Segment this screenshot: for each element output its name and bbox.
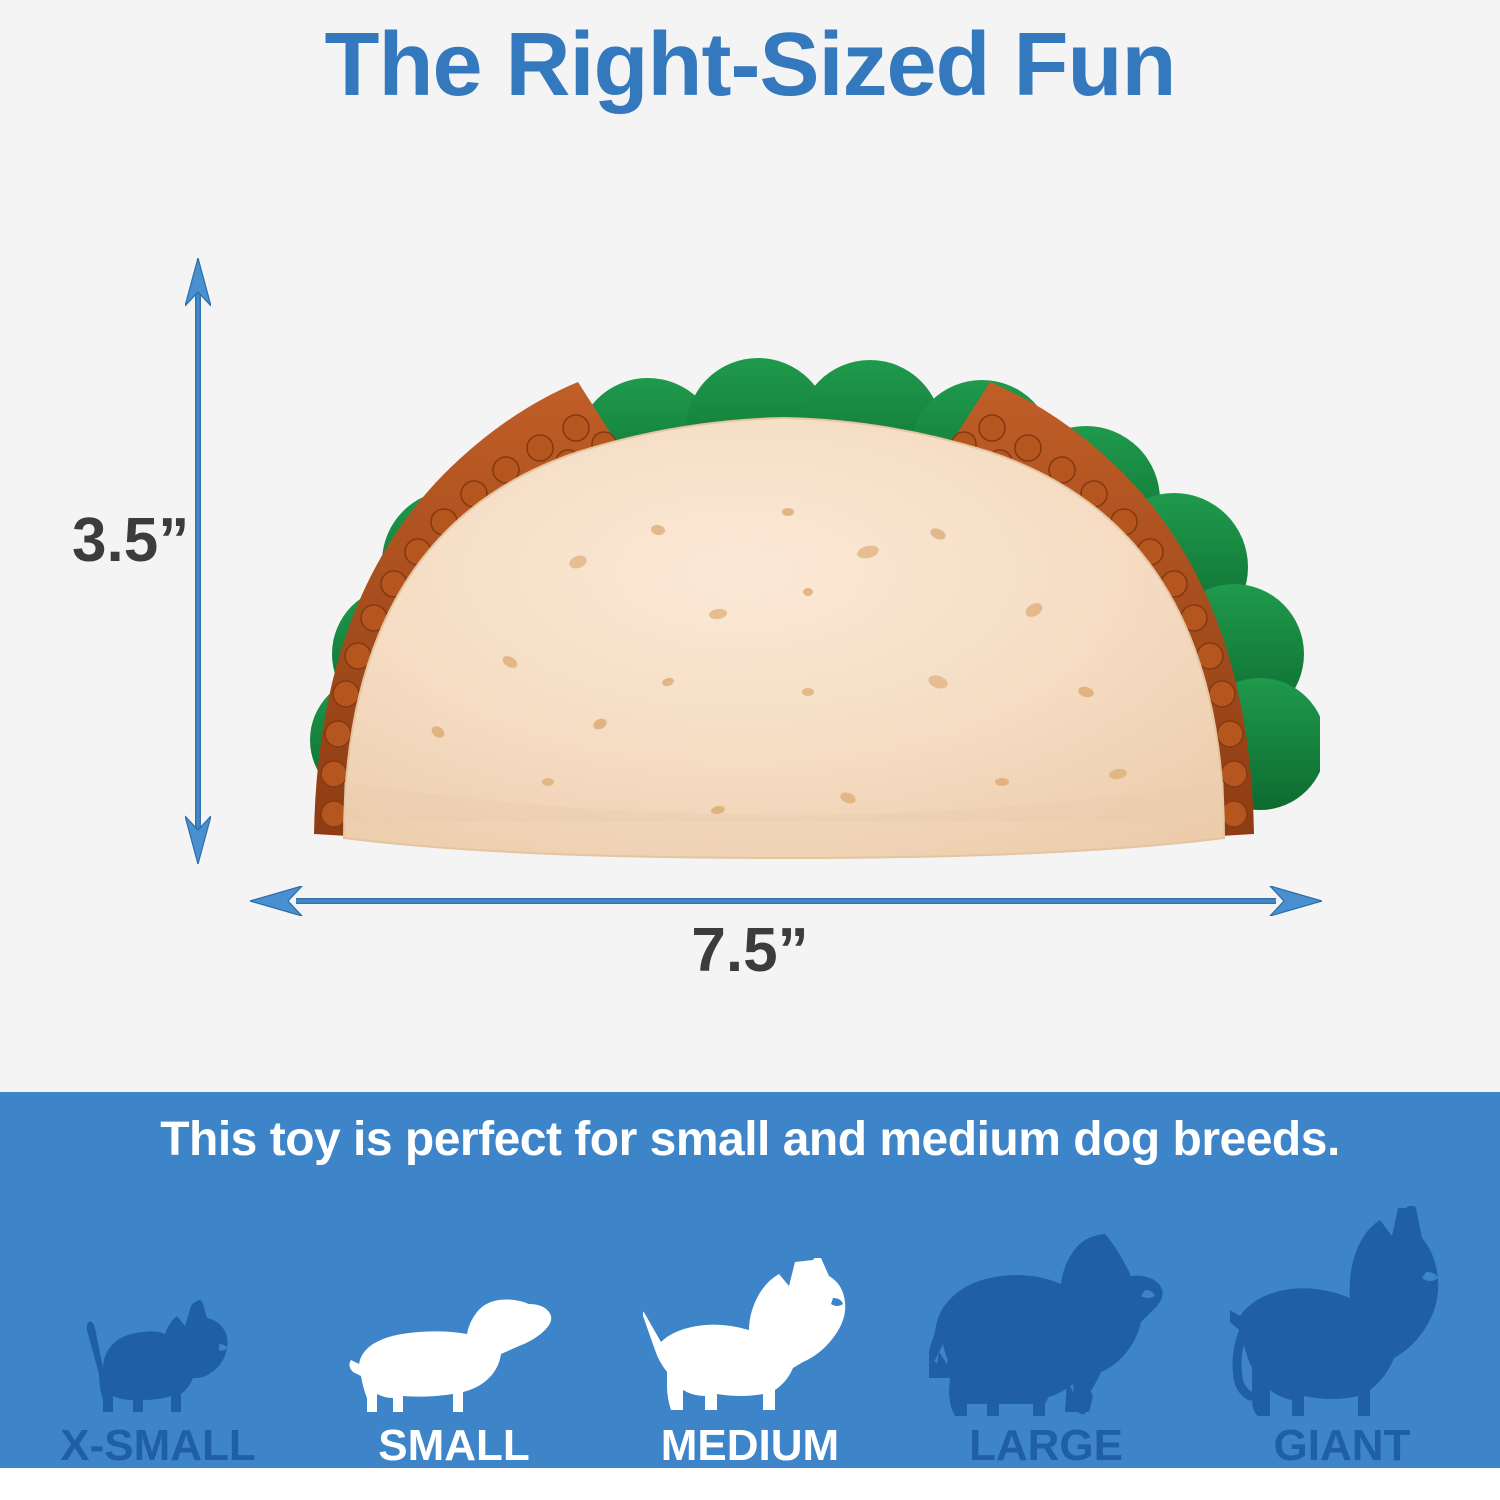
taco-plush-toy-image — [248, 262, 1320, 862]
size-option-medium[interactable]: MEDIUM — [610, 1206, 890, 1468]
infographic-page: The Right-Sized Fun 3.5” — [0, 0, 1500, 1500]
banner-message: This toy is perfect for small and medium… — [0, 1112, 1500, 1167]
width-dimension-label: 7.5” — [0, 915, 1500, 986]
size-option-large[interactable]: LARGE — [906, 1206, 1186, 1468]
great-dane-dog-icon — [1230, 1206, 1455, 1418]
size-option-x-small[interactable]: X-SMALL — [18, 1206, 298, 1468]
dog-size-scale: X-SMALL SMALL MEDIUM — [0, 1168, 1500, 1468]
dachshund-dog-icon — [349, 1206, 559, 1418]
chihuahua-dog-icon — [73, 1206, 243, 1418]
height-dimension-label: 3.5” — [72, 505, 189, 576]
size-label-x-small: X-SMALL — [60, 1424, 256, 1468]
golden-retriever-dog-icon — [929, 1206, 1164, 1418]
bull-terrier-dog-icon — [643, 1206, 858, 1418]
size-label-small: SMALL — [378, 1424, 530, 1468]
size-label-giant: GIANT — [1274, 1424, 1411, 1468]
size-option-giant[interactable]: GIANT — [1202, 1206, 1482, 1468]
width-dimension-arrow — [250, 886, 1322, 916]
size-label-medium: MEDIUM — [661, 1424, 839, 1468]
page-title: The Right-Sized Fun — [0, 18, 1500, 113]
size-option-small[interactable]: SMALL — [314, 1206, 594, 1468]
size-label-large: LARGE — [969, 1424, 1123, 1468]
bottom-white-strip — [0, 1468, 1500, 1500]
